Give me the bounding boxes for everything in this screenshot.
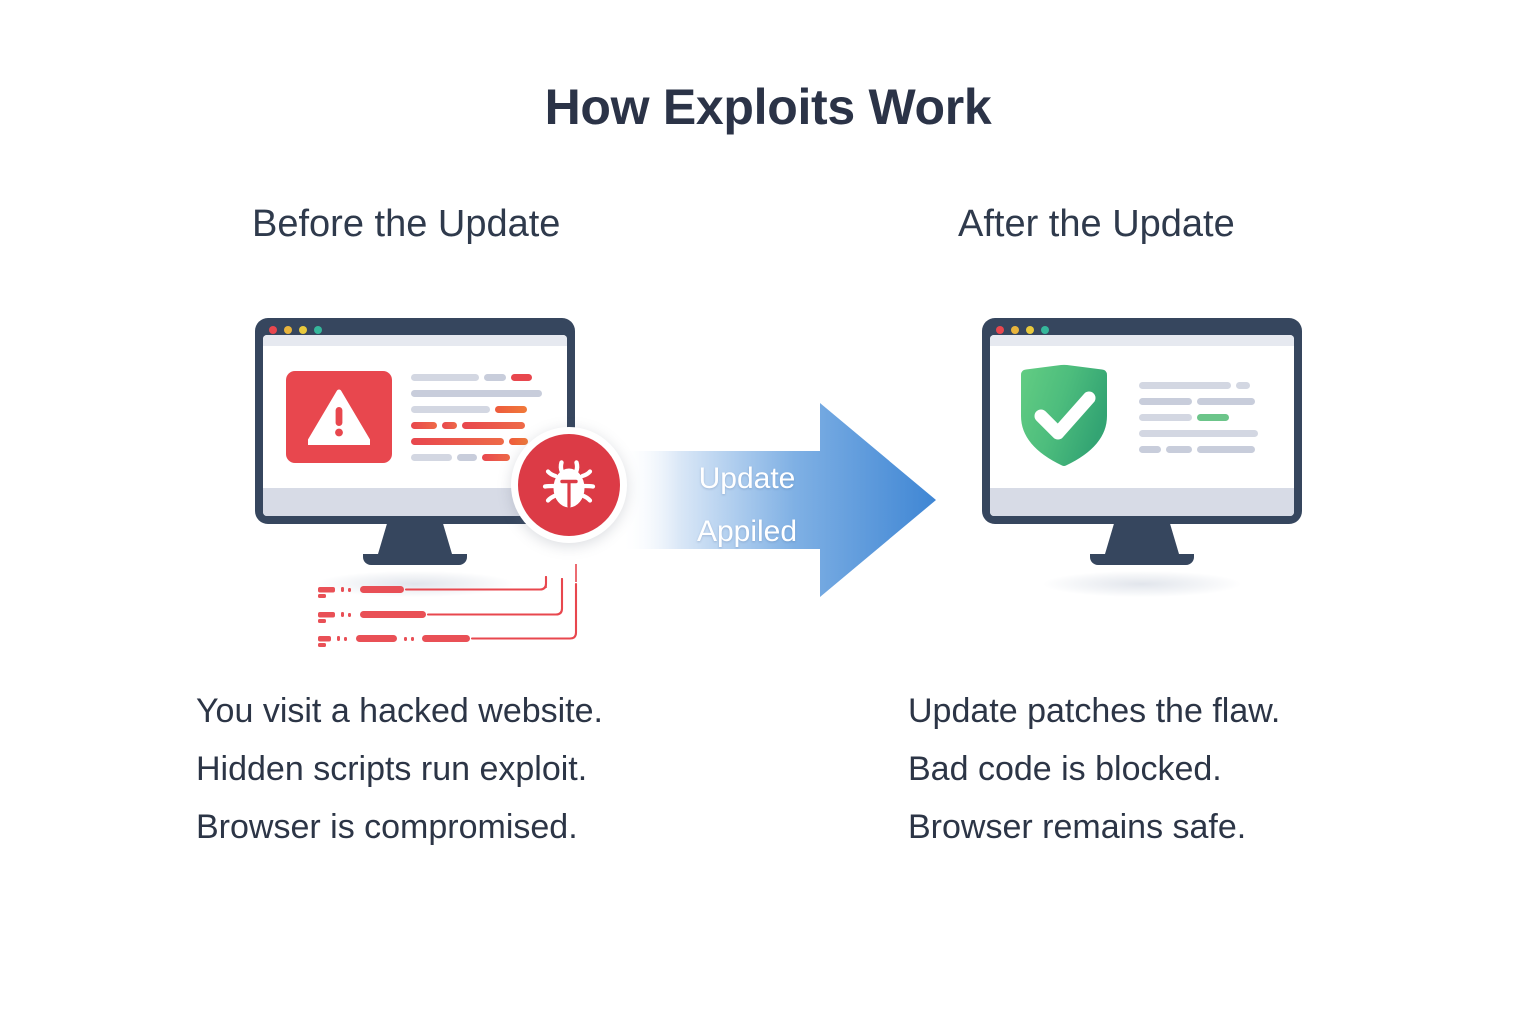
content-line-segment (411, 438, 504, 445)
caption-line-2: Hidden scripts run exploit. (196, 740, 603, 798)
content-line-segment (1139, 446, 1161, 453)
content-line-segment (484, 374, 506, 381)
warning-triangle-icon (308, 389, 370, 445)
bug-icon (536, 450, 602, 521)
monitor-shadow (1044, 571, 1240, 597)
heading-before-update: Before the Update (252, 203, 560, 246)
infographic-canvas: How Exploits Work Before the Update Afte… (0, 0, 1536, 1024)
heading-after-update: After the Update (958, 203, 1235, 246)
content-line-segment (509, 438, 528, 445)
content-line-segment (462, 422, 525, 429)
window-maximize-dot-icon (1026, 326, 1034, 334)
content-line-row (411, 390, 557, 397)
content-line-segment (457, 454, 477, 461)
caption-line-3: Browser remains safe. (908, 798, 1280, 856)
exploit-code-snippet (300, 552, 580, 664)
bug-badge-disc (518, 434, 620, 536)
monitor-neck (1105, 524, 1179, 554)
bug-badge (511, 427, 627, 543)
content-line-segment (411, 422, 437, 429)
content-line-row (411, 406, 557, 413)
shield-card (1008, 361, 1120, 474)
content-line-row (411, 422, 557, 429)
browser-status-strip (990, 488, 1294, 516)
caption-line-2: Bad code is blocked. (908, 740, 1280, 798)
content-line-segment (1139, 414, 1192, 421)
content-line-segment (482, 454, 510, 461)
content-placeholder-lines (1139, 382, 1284, 453)
content-line-segment (411, 390, 542, 397)
window-close-dot-icon (269, 326, 277, 334)
page-title: How Exploits Work (0, 78, 1536, 136)
window-traffic-lights (996, 326, 1049, 334)
content-line-segment (1236, 382, 1250, 389)
content-line-segment (1197, 398, 1255, 405)
warning-card (286, 371, 392, 463)
caption-line-1: Update patches the flaw. (908, 682, 1280, 740)
content-line-row (1139, 430, 1284, 437)
content-line-segment (1139, 398, 1192, 405)
content-line-segment (411, 374, 479, 381)
window-extra-dot-icon (1041, 326, 1049, 334)
monitor-frame (982, 318, 1302, 524)
content-line-segment (411, 454, 452, 461)
monitor-neck (378, 524, 452, 554)
content-line-row (1139, 446, 1284, 453)
content-line-segment (495, 406, 527, 413)
caption-before-update: You visit a hacked website.Hidden script… (196, 682, 603, 856)
caption-after-update: Update patches the flaw.Bad code is bloc… (908, 682, 1280, 856)
caption-line-3: Browser is compromised. (196, 798, 603, 856)
window-minimize-dot-icon (1011, 326, 1019, 334)
content-line-segment (442, 422, 457, 429)
window-minimize-dot-icon (284, 326, 292, 334)
window-extra-dot-icon (314, 326, 322, 334)
window-maximize-dot-icon (299, 326, 307, 334)
content-line-row (1139, 382, 1284, 389)
browser-toolbar-strip (990, 335, 1294, 346)
content-line-segment (1197, 414, 1229, 421)
content-line-segment (1166, 446, 1192, 453)
content-line-segment (411, 406, 490, 413)
browser-content (990, 346, 1294, 488)
caption-line-1: You visit a hacked website. (196, 682, 603, 740)
content-line-segment (1197, 446, 1255, 453)
monitor-base (1090, 554, 1194, 565)
browser-toolbar-strip (263, 335, 567, 346)
content-line-row (411, 374, 557, 381)
content-line-row (1139, 414, 1284, 421)
window-close-dot-icon (996, 326, 1004, 334)
window-traffic-lights (269, 326, 322, 334)
browser-screen (990, 335, 1294, 516)
shield-check-icon (1013, 361, 1115, 474)
update-applied-arrow (622, 393, 938, 607)
monitor-after-update (982, 318, 1302, 597)
content-line-segment (511, 374, 532, 381)
content-line-segment (1139, 430, 1258, 437)
content-line-row (1139, 398, 1284, 405)
content-line-segment (1139, 382, 1231, 389)
